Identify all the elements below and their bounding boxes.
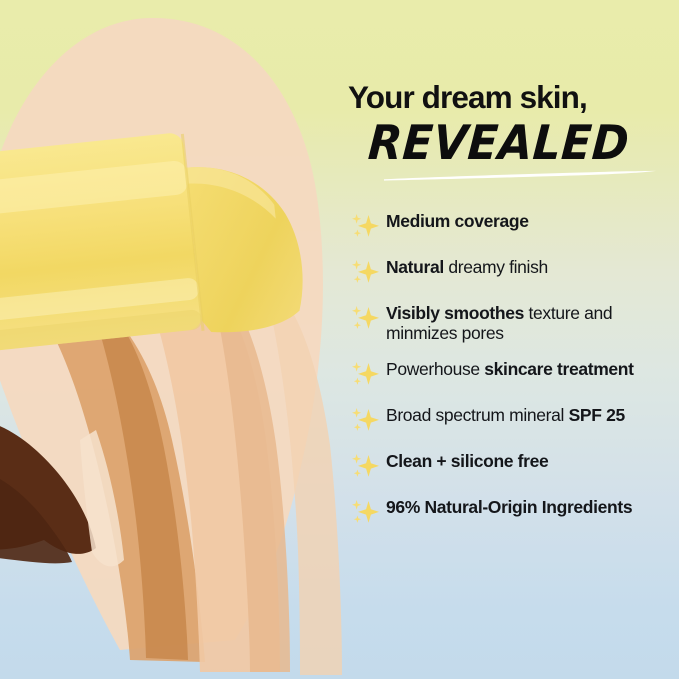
- list-item: Powerhouse skincare treatment: [348, 358, 679, 390]
- sparkle-icon: [348, 360, 382, 390]
- sparkle-icon: [348, 498, 382, 528]
- list-item-regular: Powerhouse: [386, 359, 484, 379]
- list-item-bold: Natural: [386, 257, 444, 277]
- sparkle-icon: [348, 212, 382, 242]
- list-item-bold: SPF 25: [569, 405, 625, 425]
- product-artwork: [0, 0, 360, 679]
- list-item: Broad spectrum mineral SPF 25: [348, 404, 679, 436]
- list-item-text: Medium coverage: [386, 210, 679, 231]
- list-item-regular: dreamy finish: [444, 257, 548, 277]
- list-item-bold: 96% Natural-Origin Ingredients: [386, 497, 632, 517]
- benefits-list: Medium coverage Natural dreamy finish: [348, 210, 679, 542]
- list-item: Medium coverage: [348, 210, 679, 242]
- list-item: Clean + silicone free: [348, 450, 679, 482]
- text-column: Your dream skin, REVEALED Medium cov: [348, 0, 679, 679]
- headline-line-1: Your dream skin,: [348, 82, 679, 114]
- list-item: Natural dreamy finish: [348, 256, 679, 288]
- sparkle-icon: [348, 258, 382, 288]
- list-item-text: 96% Natural-Origin Ingredients: [386, 496, 679, 517]
- list-item-text: Powerhouse skincare treatment: [386, 358, 679, 379]
- list-item: 96% Natural-Origin Ingredients: [348, 496, 679, 528]
- list-item-bold: Visibly smoothes: [386, 303, 524, 323]
- headline-block: Your dream skin, REVEALED: [348, 82, 679, 176]
- list-item-text: Visibly smoothes texture and minmizes po…: [386, 302, 679, 344]
- list-item-bold: Clean + silicone free: [386, 451, 548, 471]
- headline-line-2-wrap: REVEALED: [348, 120, 679, 176]
- list-item: Visibly smoothes texture and minmizes po…: [348, 302, 679, 344]
- product-marketing-image: Your dream skin, REVEALED Medium cov: [0, 0, 679, 679]
- sparkle-icon: [348, 452, 382, 482]
- list-item-text: Broad spectrum mineral SPF 25: [386, 404, 679, 425]
- list-item-bold: skincare treatment: [484, 359, 633, 379]
- list-item-bold: Medium coverage: [386, 211, 529, 231]
- headline-line-2: REVEALED: [345, 120, 679, 168]
- sparkle-icon: [348, 304, 382, 334]
- list-item-regular: Broad spectrum mineral: [386, 405, 569, 425]
- brush-stroke-underline-icon: [382, 170, 658, 181]
- sparkle-icon: [348, 406, 382, 436]
- list-item-text: Clean + silicone free: [386, 450, 679, 471]
- list-item-text: Natural dreamy finish: [386, 256, 679, 277]
